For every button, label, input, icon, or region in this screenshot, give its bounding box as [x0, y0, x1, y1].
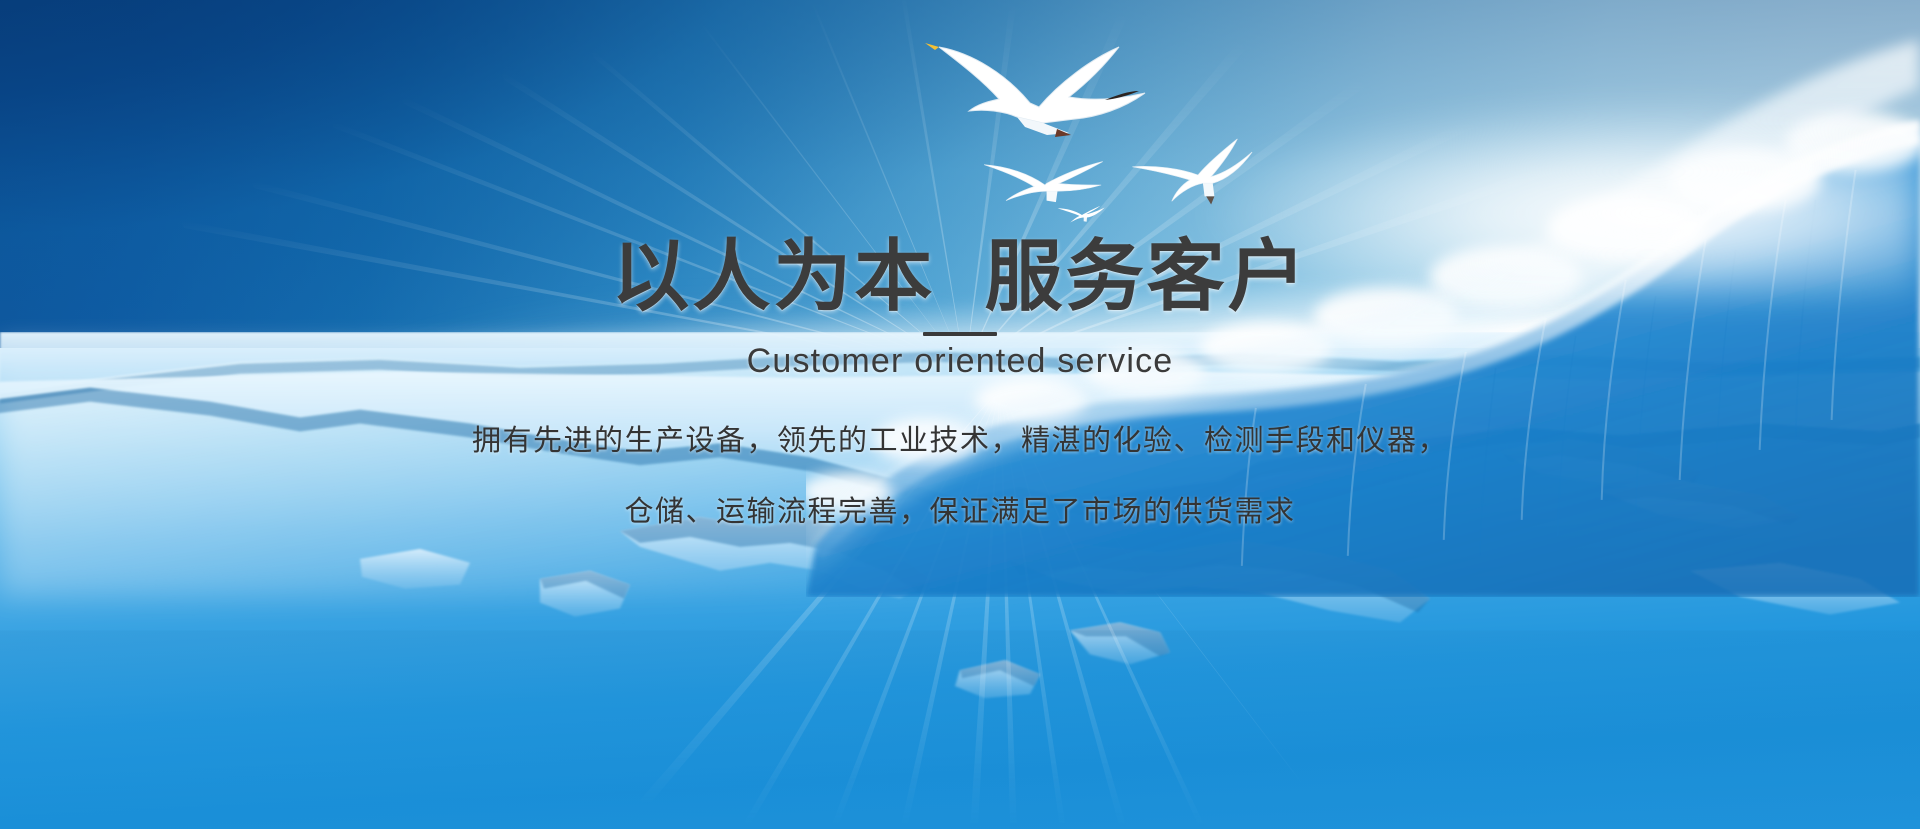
banner-body: 拥有先进的生产设备，领先的工业技术，精湛的化验、检测手段和仪器， 仓储、运输流程… [0, 425, 1920, 530]
page-title: 以人为本 服务客户 [0, 236, 1920, 318]
body-line: 仓储、运输流程完善，保证满足了市场的供货需求 [0, 496, 1920, 529]
body-line: 拥有先进的生产设备，领先的工业技术，精湛的化验、检测手段和仪器， [0, 425, 1920, 458]
banner-text-block: 以人为本 服务客户 Customer oriented service 拥有先进… [0, 236, 1920, 530]
hero-banner: 以人为本 服务客户 Customer oriented service 拥有先进… [0, 0, 1920, 829]
page-subtitle: Customer oriented service [0, 342, 1920, 381]
title-divider [923, 332, 997, 336]
